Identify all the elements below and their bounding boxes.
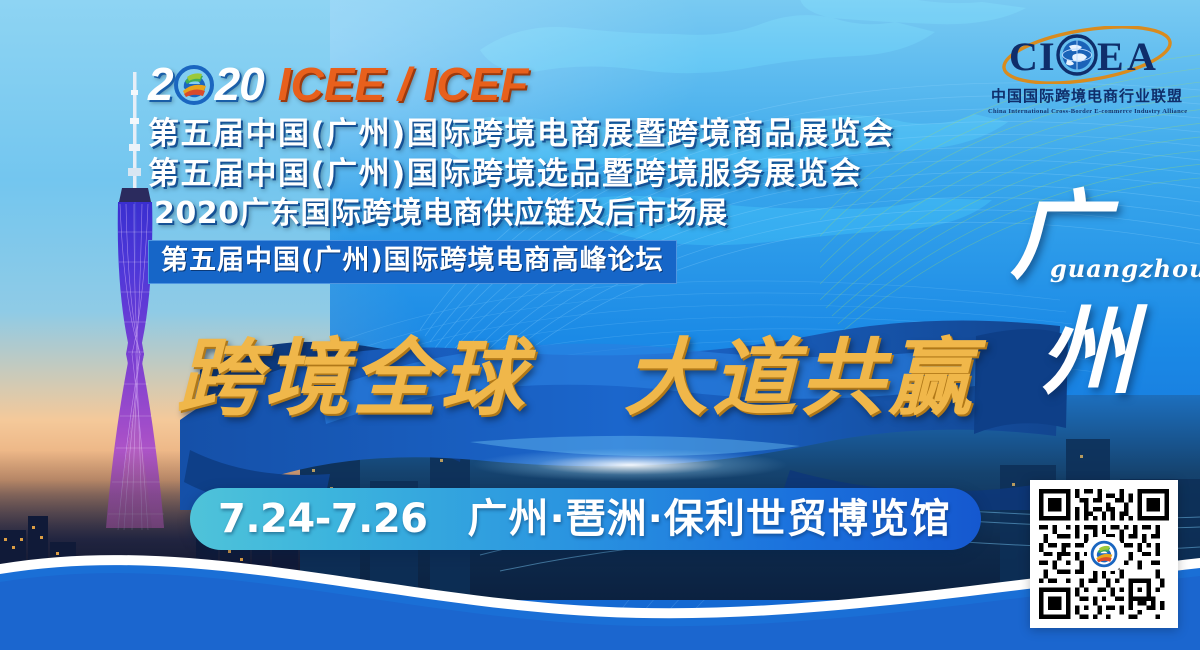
exhibition-line-3: 2020广东国际跨境电商供应链及后市场展 (154, 194, 1008, 234)
svg-text:C: C (1009, 34, 1038, 79)
forum-highlight-box: 第五届中国(广州)国际跨境电商高峰论坛 (148, 240, 677, 284)
exhibition-line-1: 第五届中国(广州)国际跨境电商展暨跨境商品展览会 (148, 114, 1008, 154)
exhibition-line-2: 第五届中国(广州)国际跨境选品暨跨境服务展览会 (148, 154, 1008, 194)
qr-center-ecommerce-e-globe-icon (1087, 537, 1121, 571)
slogan-right-text: 大道共赢 (624, 336, 976, 420)
qr-code-icon[interactable] (1030, 480, 1178, 628)
slogan-left-text: 跨境全球 (176, 336, 528, 420)
svg-text:E: E (1097, 34, 1124, 79)
white-wave-divider-icon (0, 530, 1200, 650)
alliance-name-cn: 中国国际跨境电商行业联盟 (988, 85, 1186, 106)
exhibition-promo-banner: 2 20 ICEE / ICEF 第五届中国(广州)国际跨境电商展暨跨境商品 (0, 0, 1200, 650)
year-digit-2: 2 (148, 61, 173, 107)
year-text: 2 20 (148, 61, 264, 107)
headline-block: 2 20 ICEE / ICEF 第五届中国(广州)国际跨境电商展暨跨境商品 (148, 58, 1008, 284)
cicea-globe-logo-icon: C I E A (999, 26, 1175, 84)
ecommerce-e-globe-icon (174, 65, 214, 105)
svg-text:I: I (1039, 34, 1055, 79)
brand-latin-text: ICEE / ICEF (278, 61, 528, 107)
title-row: 2 20 ICEE / ICEF (148, 58, 1008, 110)
svg-text:A: A (1127, 34, 1156, 79)
alliance-name-en: China International Cross-Border E-comme… (988, 108, 1186, 115)
slogan-block: 跨境全球 大道共赢 (176, 318, 976, 438)
year-digits-20: 20 (215, 61, 264, 107)
forum-line: 第五届中国(广州)国际跨境电商高峰论坛 (161, 245, 664, 277)
cicea-alliance-logo: C I E A 中国国际跨境电商行业联盟 China Inter (988, 26, 1186, 115)
